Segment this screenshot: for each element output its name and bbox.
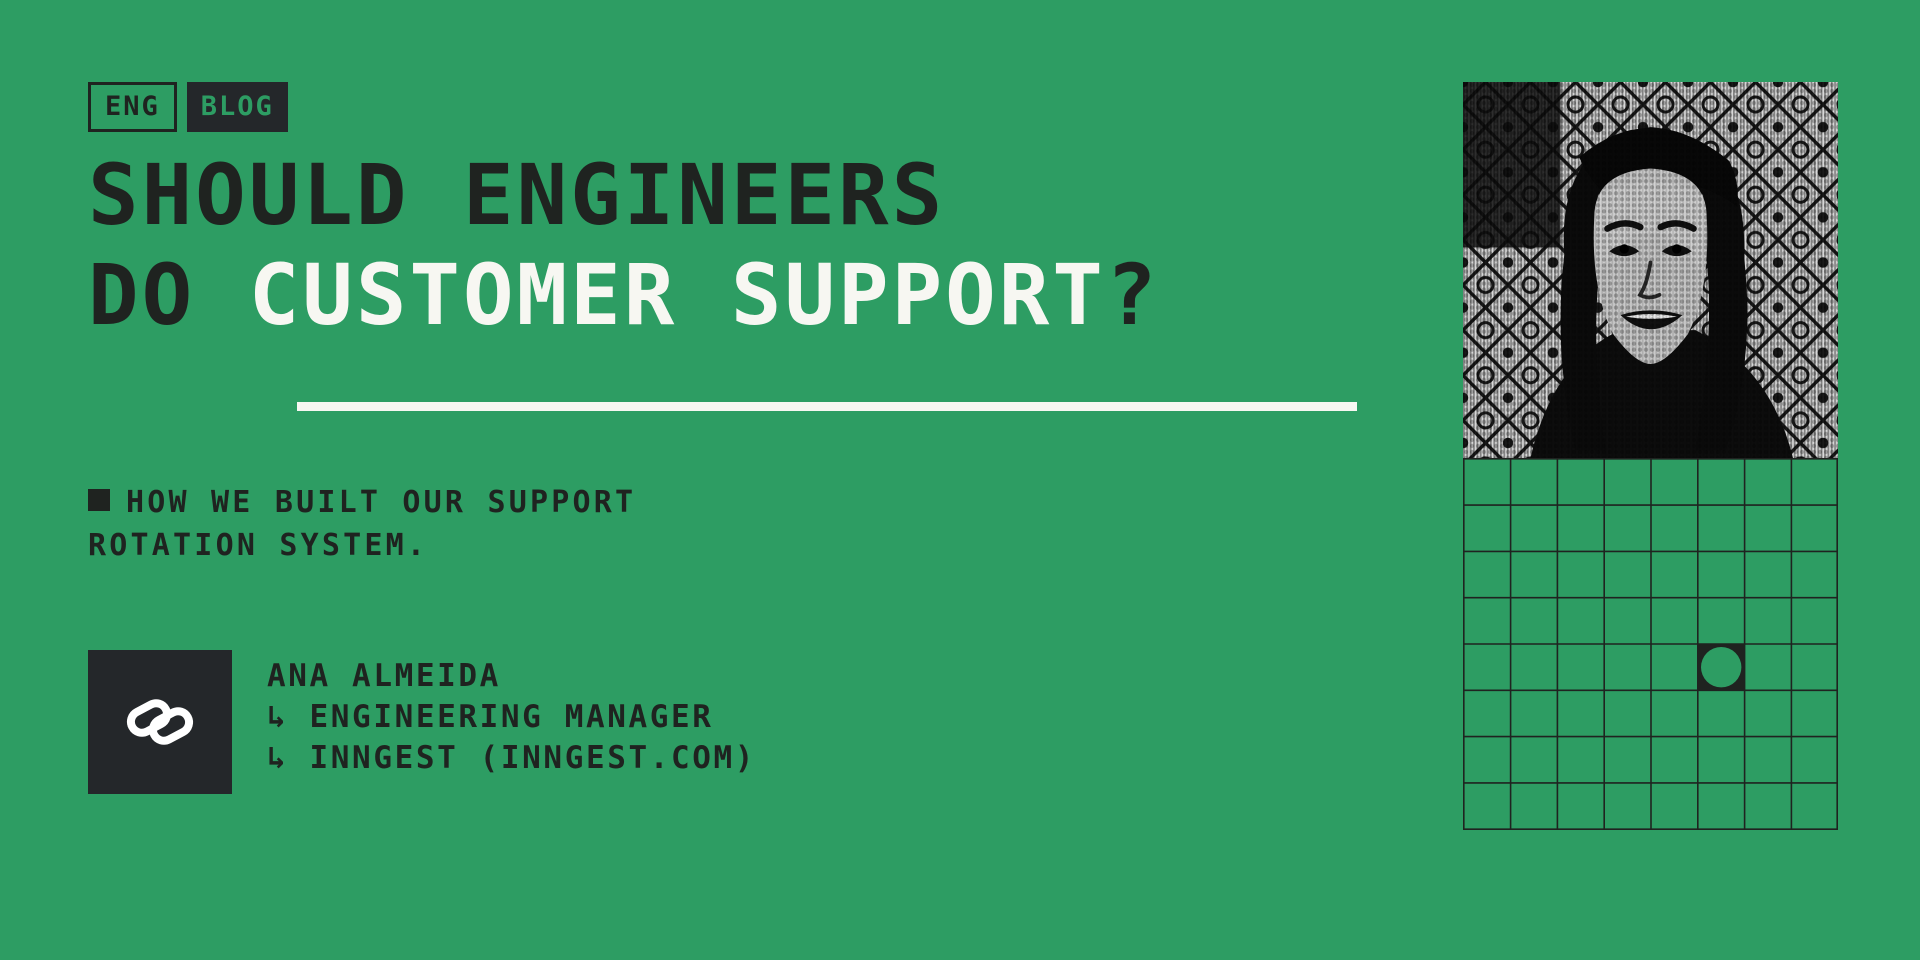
grid-marker-cell [1698, 644, 1745, 690]
title-line-2: DO CUSTOMER SUPPORT? [88, 248, 1159, 342]
author-company[interactable]: ↳ INNGEST (INNGEST.COM) [267, 738, 756, 779]
badge-eng-label: ENG [105, 93, 160, 120]
badge-group: ENG BLOG [88, 82, 288, 132]
title-underline [297, 402, 1357, 411]
author-portrait-image [1463, 82, 1838, 458]
subtitle-line-1: HOW WE BUILT OUR SUPPORT [126, 485, 636, 520]
title-highlight: CUSTOMER SUPPORT [249, 246, 1106, 344]
author-details: ANA ALMEIDA ↳ ENGINEERING MANAGER ↳ INNG… [267, 650, 756, 780]
bullet-square-icon [88, 489, 110, 511]
page-title: SHOULD ENGINEERSDO CUSTOMER SUPPORT? [88, 148, 1159, 342]
inngest-logo-icon [88, 650, 232, 794]
author-block: ANA ALMEIDA ↳ ENGINEERING MANAGER ↳ INNG… [88, 650, 756, 794]
title-line-2-prefix: DO [88, 246, 249, 344]
badge-blog-label: BLOG [201, 93, 274, 120]
author-role: ↳ ENGINEERING MANAGER [267, 697, 756, 738]
subtitle: HOW WE BUILT OUR SUPPORT ROTATION SYSTEM… [88, 482, 636, 567]
badge-blog[interactable]: BLOG [187, 82, 288, 132]
subtitle-line-2: ROTATION SYSTEM. [88, 528, 428, 563]
title-line-1: SHOULD ENGINEERS [88, 146, 945, 244]
poster-canvas: ENG BLOG SHOULD ENGINEERSDO CUSTOMER SUP… [0, 0, 1920, 960]
decorative-grid [1463, 458, 1838, 830]
author-name: ANA ALMEIDA [267, 656, 756, 697]
badge-eng[interactable]: ENG [88, 82, 177, 132]
title-line-2-suffix: ? [1106, 246, 1160, 344]
